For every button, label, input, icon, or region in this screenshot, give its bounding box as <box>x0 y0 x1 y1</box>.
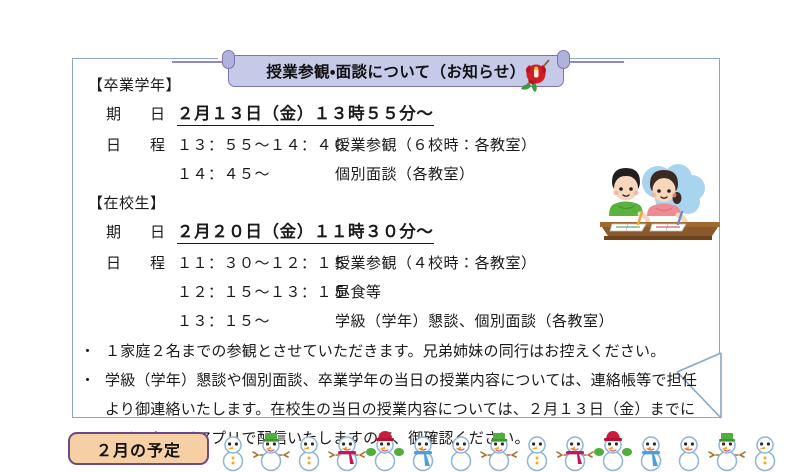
note-line: より御連絡いたします。在校生の当日の授業内容については、２月１３日（金）までに <box>105 398 695 419</box>
snowman-icon <box>670 428 708 472</box>
snowman-icon <box>290 428 328 472</box>
schedule-desc: 授業参観（６校時：各教室） <box>335 134 537 155</box>
snowman-icon <box>556 428 594 472</box>
schedule-desc: 昼食等 <box>335 281 382 302</box>
bullet-mark: ・ <box>80 369 95 390</box>
schedule-label-graduating: 日 程 <box>106 134 172 155</box>
section-heading-graduating: 【卒業学年】 <box>88 74 181 95</box>
date-label-graduating: 期 日 <box>106 103 172 124</box>
snowman-icon <box>708 428 746 472</box>
section-heading-current: 【在校生】 <box>88 192 166 213</box>
schedule-time: １２：１５〜１３：１５ <box>177 281 348 302</box>
notice-page: 授業参観・面談について（お知らせ） 【卒業学年】 期 日 ２月１３日（金）１３時… <box>0 0 800 472</box>
snowman-icon <box>214 428 252 472</box>
month-schedule-pill[interactable]: ２月の予定 <box>68 432 209 465</box>
schedule-time: １３：５５〜１４：４０ <box>177 134 348 155</box>
bullet-mark: ・ <box>80 340 95 361</box>
date-value-current: ２月２０日（金）１１時３０分〜 <box>177 218 434 244</box>
schedule-desc: 個別面談（各教室） <box>335 163 475 184</box>
snowman-icon <box>480 428 518 472</box>
snowman-border-row <box>214 428 788 472</box>
snowman-icon <box>518 428 556 472</box>
snowman-icon <box>746 428 784 472</box>
schedule-time: １４：４５〜 <box>177 163 270 184</box>
schedule-time: １３：１５〜 <box>177 310 270 331</box>
schedule-desc: 学級（学年）懇談、個別面談（各教室） <box>335 310 614 331</box>
snowman-icon <box>328 428 366 472</box>
students-at-desks-icon <box>596 154 724 248</box>
schedule-label-current: 日 程 <box>106 252 172 273</box>
snowman-icon <box>252 428 290 472</box>
schedule-desc: 授業参観（４校時：各教室） <box>335 252 537 273</box>
schedule-time: １１：３０〜１２：１５ <box>177 252 348 273</box>
date-value-graduating: ２月１３日（金）１３時５５分〜 <box>177 100 434 126</box>
snowman-icon <box>594 428 632 472</box>
snowman-icon <box>442 428 480 472</box>
snowman-icon <box>632 428 670 472</box>
date-label-current: 期 日 <box>106 221 172 242</box>
note-line: 学級（学年）懇談や個別面談、卒業学年の当日の授業内容については、連絡帳等で担任 <box>105 369 697 390</box>
note-line: １家庭２名までの参観とさせていただきます。兄弟姉妹の同行はお控えください。 <box>105 340 665 361</box>
snowman-icon <box>404 428 442 472</box>
snowman-icon <box>366 428 404 472</box>
month-schedule-label: ２月の予定 <box>96 437 181 461</box>
